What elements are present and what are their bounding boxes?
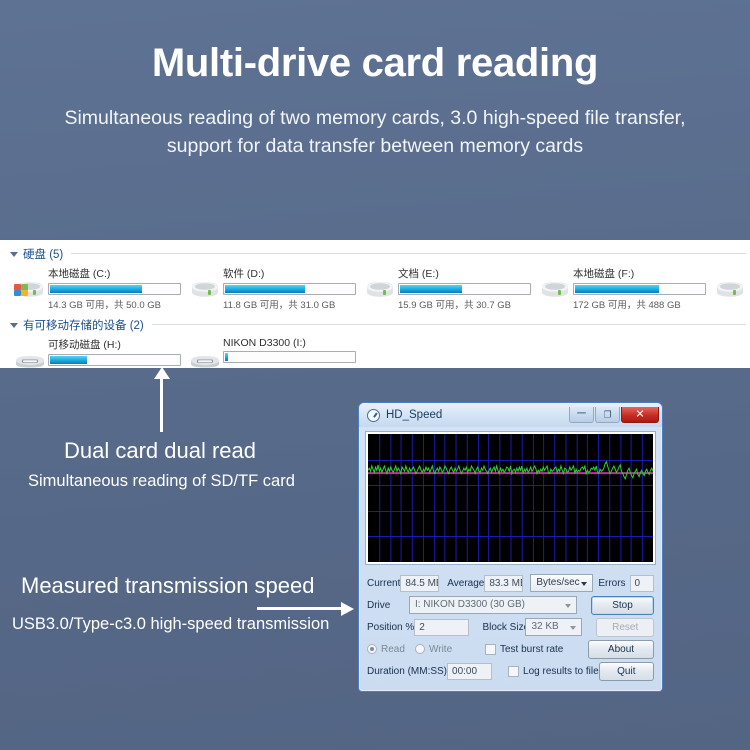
average-value: 83.3 MB	[484, 575, 523, 592]
divider	[71, 253, 746, 254]
drive-group-label: 硬盘 (5)	[23, 246, 63, 262]
right-arrow-icon	[257, 607, 342, 610]
drive-info: 文档 (E:) 15.9 GB 可用，共 30.7 GB	[398, 265, 531, 311]
hard-drive-icon	[364, 265, 398, 303]
windows-explorer-drives-panel: 硬盘 (5)	[0, 240, 750, 368]
drive-group-label: 有可移动存储的设备 (2)	[23, 317, 144, 333]
drive-info: NIKON D3300 (I:) 29.3 GB 可用，共 29.7 GB	[223, 336, 356, 368]
minimize-icon: ─	[570, 406, 593, 418]
blocksize-dropdown[interactable]: 32 KB	[525, 618, 582, 636]
burst-rate-label: Test burst rate	[500, 644, 563, 655]
hard-drive-icon	[714, 265, 748, 303]
mode-row: Read Write Test burst rate About	[367, 638, 654, 660]
reset-button[interactable]: Reset	[596, 618, 654, 637]
duration-row: Duration (MM:SS) 00:00 Log results to fi…	[367, 660, 654, 682]
hard-drive-icon	[539, 265, 573, 303]
drive-usage-fill	[400, 285, 462, 293]
drive-capacity-text: 29.3 GB 可用，共 29.7 GB	[223, 365, 356, 368]
divider	[152, 324, 746, 325]
about-button[interactable]: About	[588, 640, 654, 659]
stop-button[interactable]: Stop	[591, 596, 654, 615]
window-title-bar[interactable]: HD_Speed ─ ❐ ✕	[359, 403, 662, 427]
chevron-down-icon[interactable]	[10, 252, 18, 257]
annotation-speed-title: Measured transmission speed	[21, 573, 314, 599]
drive-label: Drive	[367, 600, 409, 611]
read-label: Read	[381, 644, 415, 655]
drive-usage-bar	[573, 283, 706, 295]
drive-item-h[interactable]: 可移动磁盘 (H:) 42.2 GB 可用，共 59.4 GB	[14, 336, 189, 368]
duration-value: 00:00	[447, 663, 492, 680]
burst-rate-checkbox[interactable]	[485, 644, 496, 655]
up-arrow-icon	[160, 378, 163, 432]
drive-info: 本地磁盘 (F:) 172 GB 可用，共 488 GB	[573, 265, 706, 311]
log-results-checkbox[interactable]	[508, 666, 519, 677]
drive-item-d[interactable]: 软件 (D:) 11.8 GB 可用，共 31.0 GB	[189, 265, 364, 311]
drive-usage-fill	[225, 285, 305, 293]
drive-group-header-removable[interactable]: 有可移动存储的设备 (2)	[0, 316, 750, 333]
drive-capacity-text: 172 GB 可用，共 488 GB	[573, 297, 706, 311]
drive-item-overflow[interactable]	[714, 265, 750, 311]
speed-graph	[368, 434, 653, 562]
drive-list-removable: 可移动磁盘 (H:) 42.2 GB 可用，共 59.4 GB NIKON D3…	[0, 336, 750, 368]
speedometer-icon	[367, 409, 380, 422]
minimize-button[interactable]: ─	[569, 407, 594, 423]
drive-usage-bar	[223, 283, 356, 295]
position-input[interactable]: 2	[414, 619, 469, 636]
drive-info: 软件 (D:) 11.8 GB 可用，共 31.0 GB	[223, 265, 356, 311]
drive-capacity-text: 11.8 GB 可用，共 31.0 GB	[223, 297, 356, 311]
drive-label: 软件 (D:)	[223, 266, 356, 281]
drive-usage-fill	[50, 356, 87, 364]
drive-item-e[interactable]: 文档 (E:) 15.9 GB 可用，共 30.7 GB	[364, 265, 539, 311]
drive-usage-fill	[50, 285, 142, 293]
drive-info: 本地磁盘 (C:) 14.3 GB 可用，共 50.0 GB	[48, 265, 181, 311]
stats-row: Current 84.5 MB Average 83.3 MB Bytes/se…	[367, 572, 654, 594]
read-radio[interactable]	[367, 644, 377, 654]
close-icon: ✕	[622, 409, 658, 420]
hard-drive-icon	[189, 265, 223, 303]
hd-speed-window: HD_Speed ─ ❐ ✕ Current 84.5 MB Average 8…	[358, 402, 663, 692]
drive-usage-fill	[225, 353, 228, 361]
drive-capacity-text: 14.3 GB 可用，共 50.0 GB	[48, 297, 181, 311]
maximize-button[interactable]: ❐	[595, 407, 620, 423]
hard-drive-icon	[14, 265, 48, 303]
annotation-dual-card-title: Dual card dual read	[64, 438, 256, 464]
maximize-icon: ❐	[596, 410, 619, 419]
hero-section: Multi-drive card reading Simultaneous re…	[0, 0, 750, 161]
position-row: Position % 2 Block Size 32 KB Reset	[367, 616, 654, 638]
drive-usage-bar	[48, 283, 181, 295]
page-subtitle: Simultaneous reading of two memory cards…	[60, 104, 690, 161]
hd-speed-controls: Current 84.5 MB Average 83.3 MB Bytes/se…	[359, 565, 662, 682]
drive-label: NIKON D3300 (I:)	[223, 337, 356, 349]
speed-graph-container	[365, 431, 656, 565]
errors-value: 0	[630, 575, 654, 592]
drive-item-c[interactable]: 本地磁盘 (C:) 14.3 GB 可用，共 50.0 GB	[14, 265, 189, 311]
duration-label: Duration (MM:SS)	[367, 666, 447, 677]
close-button[interactable]: ✕	[621, 407, 659, 423]
position-label: Position %	[367, 622, 414, 633]
annotation-dual-card-subtitle: Simultaneous reading of SD/TF card	[28, 472, 295, 491]
write-radio[interactable]	[415, 644, 425, 654]
drive-capacity-text: 15.9 GB 可用，共 30.7 GB	[398, 297, 531, 311]
drive-info: 可移动磁盘 (H:) 42.2 GB 可用，共 59.4 GB	[48, 336, 181, 368]
drive-label: 文档 (E:)	[398, 266, 531, 281]
average-label: Average	[439, 578, 484, 589]
current-label: Current	[367, 578, 400, 589]
unit-dropdown[interactable]: Bytes/sec	[530, 574, 593, 592]
drive-label: 本地磁盘 (F:)	[573, 266, 706, 281]
drive-item-i[interactable]: NIKON D3300 (I:) 29.3 GB 可用，共 29.7 GB	[189, 336, 364, 368]
errors-label: Errors	[593, 578, 625, 589]
drive-label: 可移动磁盘 (H:)	[48, 337, 181, 352]
drive-label: 本地磁盘 (C:)	[48, 266, 181, 281]
drive-usage-bar	[48, 354, 181, 366]
current-value: 84.5 MB	[400, 575, 439, 592]
drive-item-f[interactable]: 本地磁盘 (F:) 172 GB 可用，共 488 GB	[539, 265, 714, 311]
drive-list-harddisks: 本地磁盘 (C:) 14.3 GB 可用，共 50.0 GB 软件 (D:)	[0, 265, 750, 311]
drive-dropdown[interactable]: I: NIKON D3300 (30 GB)	[409, 596, 577, 614]
drive-usage-fill	[575, 285, 659, 293]
drive-group-header-harddisks[interactable]: 硬盘 (5)	[0, 245, 750, 262]
drive-row: Drive I: NIKON D3300 (30 GB) Stop	[367, 594, 654, 616]
removable-drive-icon	[14, 336, 48, 368]
blocksize-label: Block Size	[469, 622, 525, 633]
drive-usage-bar	[398, 283, 531, 295]
page-title: Multi-drive card reading	[0, 40, 750, 86]
chevron-down-icon[interactable]	[10, 323, 18, 328]
write-label: Write	[429, 644, 475, 655]
annotation-speed-subtitle: USB3.0/Type-c3.0 high-speed transmission	[12, 615, 329, 634]
window-controls: ─ ❐ ✕	[569, 407, 659, 423]
removable-drive-icon	[189, 336, 223, 368]
quit-button[interactable]: Quit	[599, 662, 654, 681]
log-results-label: Log results to file	[523, 666, 599, 677]
window-title: HD_Speed	[386, 409, 569, 421]
drive-usage-bar	[223, 351, 356, 363]
